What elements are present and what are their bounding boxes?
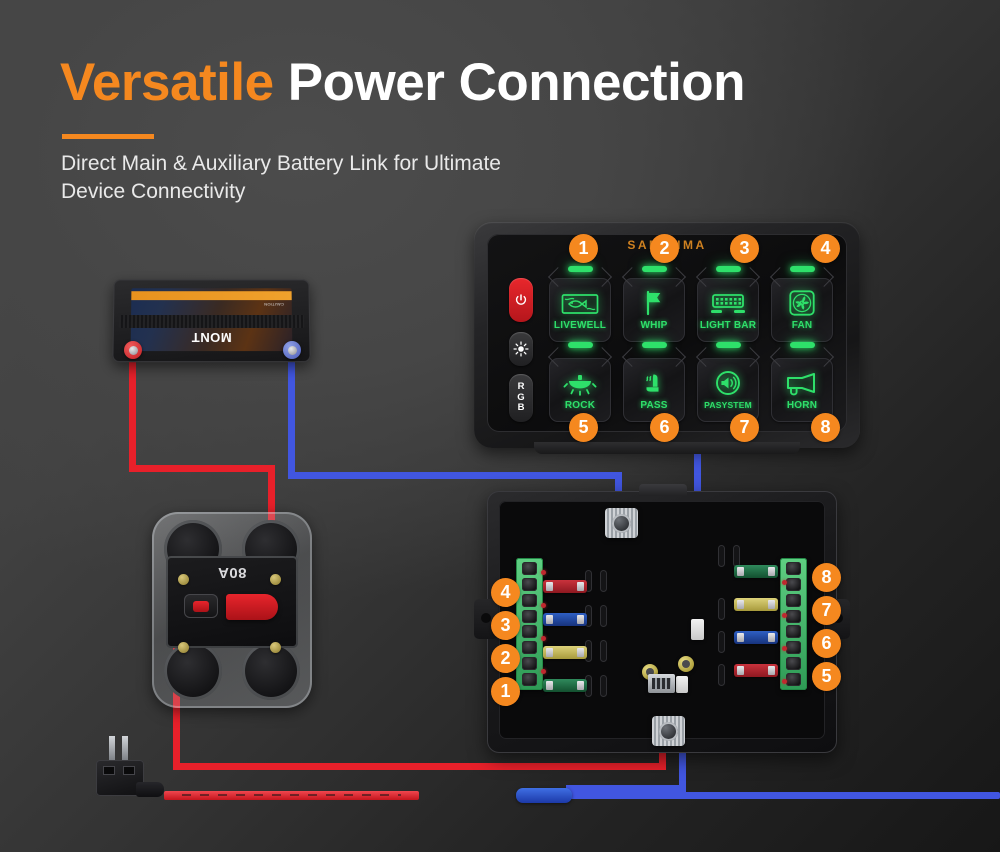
relay-socket bbox=[718, 631, 725, 653]
relay-badge-5: 5 bbox=[812, 662, 841, 691]
fuse-led-2 bbox=[541, 636, 546, 641]
panel-harness-connector bbox=[691, 619, 704, 640]
relay-box-top-tab bbox=[639, 484, 687, 496]
circuit-breaker-80a: 80A bbox=[152, 512, 312, 708]
fuse-channel-7 bbox=[734, 598, 778, 611]
callout-badge-1: 1 bbox=[569, 234, 598, 263]
breaker-stud-bottom-left bbox=[178, 642, 189, 653]
rgb-button[interactable]: R G B bbox=[509, 374, 533, 422]
relay-box-ground-stud bbox=[652, 716, 685, 746]
relay-socket bbox=[733, 545, 740, 567]
wire-bottom-horizontal bbox=[566, 785, 686, 792]
fuse-led-7 bbox=[782, 613, 787, 618]
relay-badge-6: 6 bbox=[812, 629, 841, 658]
callout-badge-5: 5 bbox=[569, 413, 598, 442]
light-bar-icon bbox=[709, 286, 747, 316]
relay-box-signal-connector bbox=[676, 676, 688, 693]
auxiliary-battery: CAUTION MONT bbox=[112, 279, 310, 362]
terminal-screw bbox=[786, 578, 801, 591]
switch-label: ROCK bbox=[565, 400, 595, 411]
terminal-screw bbox=[786, 673, 801, 686]
fuse-led-3 bbox=[541, 603, 546, 608]
fuse-led-1 bbox=[541, 669, 546, 674]
callout-badge-7: 7 bbox=[730, 413, 759, 442]
relay-socket bbox=[600, 605, 607, 627]
relay-badge-7: 7 bbox=[812, 596, 841, 625]
fan-icon bbox=[789, 286, 815, 316]
diagram-canvas: Versatile Power Connection Direct Main &… bbox=[0, 0, 1000, 852]
switch-led-indicator bbox=[716, 266, 741, 272]
terminal-screw bbox=[786, 610, 801, 623]
switch-label: WHIP bbox=[641, 320, 668, 331]
power-icon bbox=[514, 293, 528, 307]
fuse-led-4 bbox=[541, 570, 546, 575]
relay-badge-4: 4 bbox=[491, 578, 520, 607]
wire-battery-negative-horizontal bbox=[288, 472, 617, 479]
callout-badge-2: 2 bbox=[650, 234, 679, 263]
switch-button-pass[interactable]: PASS bbox=[619, 350, 689, 426]
dimmer-button[interactable] bbox=[509, 332, 533, 366]
breaker-stud-top-left bbox=[178, 574, 189, 585]
wire-battery-positive-horizontal bbox=[129, 465, 275, 472]
relay-socket bbox=[718, 664, 725, 686]
breaker-stud-bottom-right bbox=[270, 642, 281, 653]
terminal-screw bbox=[786, 594, 801, 607]
fuse-channel-8 bbox=[734, 565, 778, 578]
breaker-reset-button[interactable] bbox=[184, 594, 218, 618]
battery-negative-terminal bbox=[283, 341, 301, 359]
switch-label: LIGHT BAR bbox=[700, 320, 756, 331]
relay-badge-2: 2 bbox=[491, 644, 520, 673]
wire-battery-positive-vertical bbox=[129, 350, 136, 472]
callout-badge-6: 6 bbox=[650, 413, 679, 442]
terminal-screw bbox=[786, 641, 801, 654]
brightness-icon bbox=[513, 341, 529, 357]
switch-led-indicator bbox=[790, 266, 815, 272]
relay-socket bbox=[600, 640, 607, 662]
switch-button-light-bar[interactable]: LIGHT BAR bbox=[693, 270, 763, 346]
page-title: Versatile Power Connection bbox=[60, 56, 745, 109]
callout-badge-3: 3 bbox=[730, 234, 759, 263]
breaker-stud-top-right bbox=[270, 574, 281, 585]
speaker-icon bbox=[715, 366, 741, 396]
battery-caution-stripe bbox=[131, 291, 291, 300]
callout-badge-4: 4 bbox=[811, 234, 840, 263]
terminal-block-right bbox=[780, 558, 807, 690]
switch-led-indicator bbox=[568, 342, 593, 348]
page-subtitle: Direct Main & Auxiliary Battery Link for… bbox=[61, 150, 501, 206]
terminal-screw bbox=[522, 594, 537, 607]
relay-box-mini-relay bbox=[648, 674, 675, 693]
breaker-body: 80A bbox=[166, 556, 298, 648]
flag-icon bbox=[641, 286, 667, 316]
terminal-screw bbox=[522, 610, 537, 623]
fuse-channel-1 bbox=[543, 679, 587, 692]
terminal-block-left bbox=[516, 558, 543, 690]
battery-strap bbox=[119, 315, 304, 328]
fuse-tap-blue-extension bbox=[566, 792, 1000, 799]
heated-seat-icon bbox=[641, 366, 667, 396]
switch-label: FAN bbox=[792, 320, 813, 331]
page-title-rest: Power Connection bbox=[288, 53, 745, 112]
fuse-channel-5 bbox=[734, 664, 778, 677]
relay-badge-1: 1 bbox=[491, 677, 520, 706]
relay-badge-3: 3 bbox=[491, 611, 520, 640]
rock-light-icon bbox=[563, 366, 597, 396]
terminal-screw bbox=[786, 625, 801, 638]
fish-tank-icon bbox=[561, 286, 599, 316]
relay-box-positive-stud bbox=[605, 508, 638, 538]
breaker-reset-lever[interactable] bbox=[226, 594, 278, 620]
switch-led-indicator bbox=[642, 266, 667, 272]
page-title-accent: Versatile bbox=[60, 53, 274, 112]
switch-led-indicator bbox=[790, 342, 815, 348]
switch-button-livewell[interactable]: LIVEWELL bbox=[545, 270, 615, 346]
relay-socket bbox=[718, 545, 725, 567]
fuse-channel-6 bbox=[734, 631, 778, 644]
battery-brand-logo: MONT bbox=[131, 330, 293, 345]
fuse-tap-red-lead bbox=[164, 791, 419, 800]
switch-label: PASYSTEM bbox=[704, 400, 752, 410]
battery-caution-text: CAUTION bbox=[264, 302, 284, 307]
wire-breaker-out-horizontal bbox=[173, 763, 666, 770]
terminal-screw bbox=[786, 657, 801, 670]
relay-socket bbox=[718, 598, 725, 620]
terminal-screw bbox=[522, 578, 537, 591]
blue-butt-connector bbox=[516, 788, 572, 803]
breaker-lobe-bottom-left bbox=[164, 642, 222, 700]
title-underline-rule bbox=[62, 134, 154, 139]
fuse-tap-blades bbox=[106, 736, 132, 762]
fuse-tap-wire-boot bbox=[136, 782, 164, 797]
switch-led-indicator bbox=[568, 266, 593, 272]
switch-panel-inner: SAN HIMA R G B bbox=[487, 234, 847, 432]
switch-label: PASS bbox=[640, 400, 667, 411]
terminal-screw bbox=[522, 641, 537, 654]
terminal-screw bbox=[522, 673, 537, 686]
relay-badge-8: 8 bbox=[812, 563, 841, 592]
relay-box-small-stud-right bbox=[678, 656, 694, 672]
switch-led-indicator bbox=[716, 342, 741, 348]
wire-battery-negative-vertical bbox=[288, 350, 295, 472]
rgb-letter-b: B bbox=[518, 403, 525, 414]
switch-led-indicator bbox=[642, 342, 667, 348]
switch-button-whip[interactable]: WHIP bbox=[619, 270, 689, 346]
terminal-screw bbox=[522, 562, 537, 575]
callout-badge-8: 8 bbox=[811, 413, 840, 442]
fuse-led-8 bbox=[782, 580, 787, 585]
fuse-channel-4 bbox=[543, 580, 587, 593]
fuse-led-6 bbox=[782, 646, 787, 651]
switch-grid: LIVEWELL WHIP bbox=[545, 270, 837, 426]
relay-socket bbox=[600, 570, 607, 592]
power-button[interactable] bbox=[509, 278, 533, 322]
battery-positive-terminal bbox=[124, 341, 142, 359]
switch-label: LIVEWELL bbox=[554, 320, 606, 331]
relay-socket bbox=[600, 675, 607, 697]
terminal-screw bbox=[522, 625, 537, 638]
horn-icon bbox=[785, 366, 819, 396]
switch-button-fan[interactable]: FAN bbox=[767, 270, 837, 346]
fuse-led-5 bbox=[782, 679, 787, 684]
fuse-channel-2 bbox=[543, 646, 587, 659]
terminal-screw bbox=[522, 657, 537, 670]
panel-mount-foot bbox=[534, 442, 800, 454]
terminal-screw bbox=[786, 562, 801, 575]
fuse-channel-3 bbox=[543, 613, 587, 626]
switch-label: HORN bbox=[787, 400, 817, 411]
